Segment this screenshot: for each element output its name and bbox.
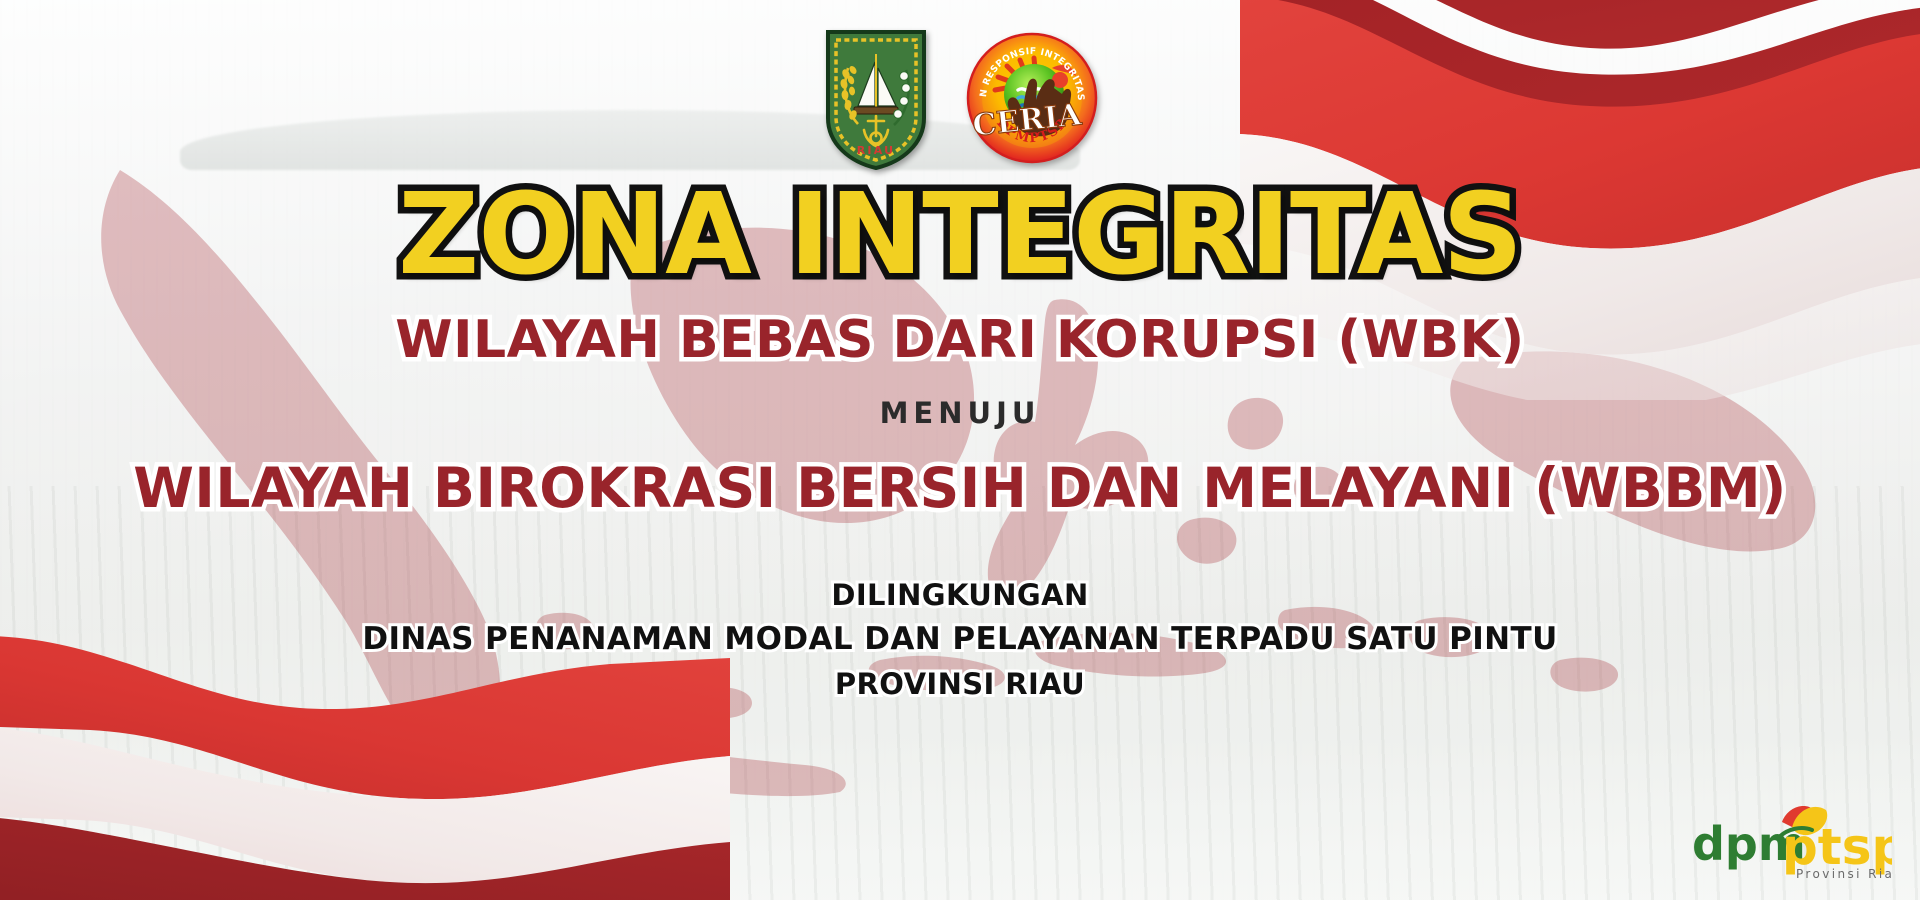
zona-integritas-banner: RIAU xyxy=(0,0,1920,900)
riau-emblem-caption: RIAU xyxy=(857,144,895,157)
banner-text-block: ZONA INTEGRITAS WILAYAH BEBAS DARI KORUP… xyxy=(0,178,1920,706)
footer-line-2: DINAS PENANAMAN MODAL DAN PELAYANAN TERP… xyxy=(0,617,1920,663)
footer-line-3: PROVINSI RIAU xyxy=(0,663,1920,706)
subtitle-wbbm: WILAYAH BIROKRASI BERSIH DAN MELAYANI (W… xyxy=(0,456,1920,520)
footer-block: DILINGKUNGAN DINAS PENANAMAN MODAL DAN P… xyxy=(0,574,1920,706)
logo-tagline: Provinsi Riau xyxy=(1796,867,1892,881)
connector-label: MENUJU xyxy=(0,396,1920,430)
emblem-row: RIAU xyxy=(0,26,1920,172)
dpm-ptsp-logo: dpm ptsp Provinsi Riau xyxy=(1678,796,1892,882)
ceria-emblem-icon: CEPAT EFISIEN RESPONSIF INTEGRITAS AKUNT… xyxy=(966,32,1098,164)
riau-emblem-icon: RIAU xyxy=(822,26,930,172)
footer-line-1: DILINGKUNGAN xyxy=(0,574,1920,617)
page-title: ZONA INTEGRITAS xyxy=(0,178,1920,292)
subtitle-wbk: WILAYAH BEBAS DARI KORUPSI (WBK) xyxy=(0,310,1920,370)
